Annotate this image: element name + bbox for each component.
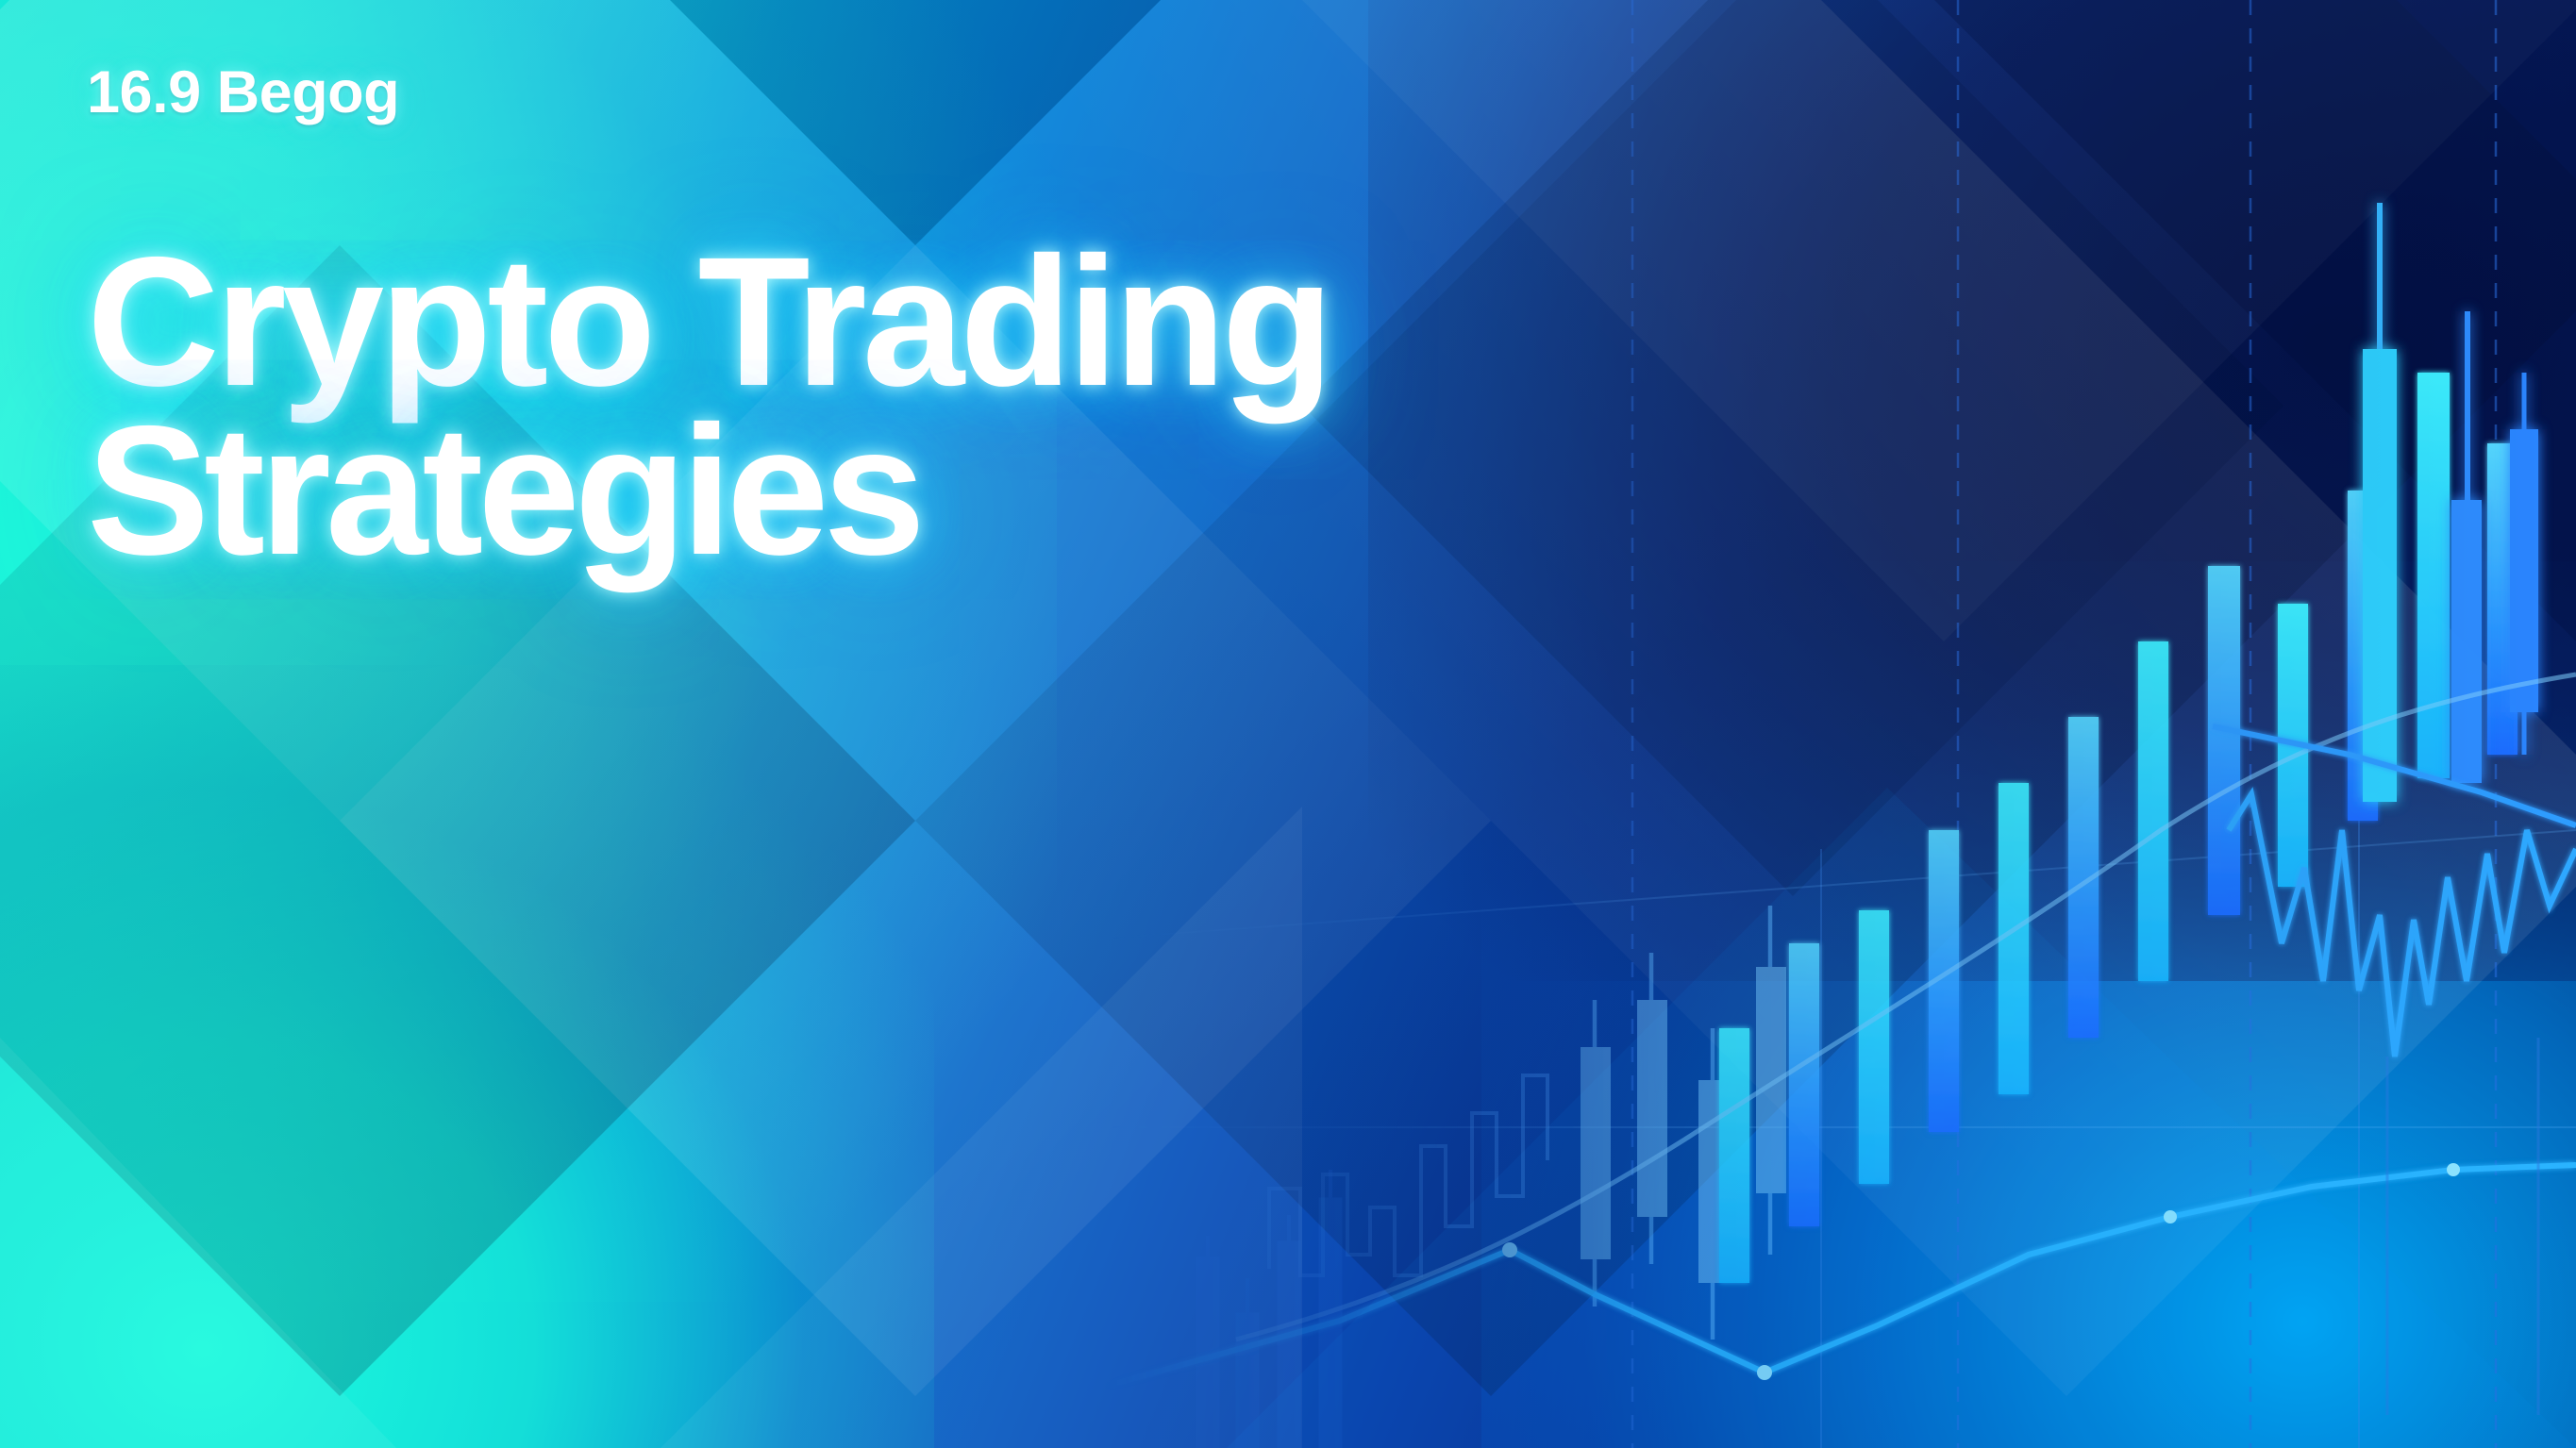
page-title: Crypto Trading Strategies [87,238,1295,576]
page-title-line-1: Crypto Trading [87,238,1295,407]
page-title-line-2: Strategies [87,407,1295,575]
rhombus-facet-overlay [0,0,2576,1448]
banner-root: 16.9 Begog Crypto Trading Strategies [0,0,2576,1448]
brand-logo: 16.9 Begog [87,58,399,126]
